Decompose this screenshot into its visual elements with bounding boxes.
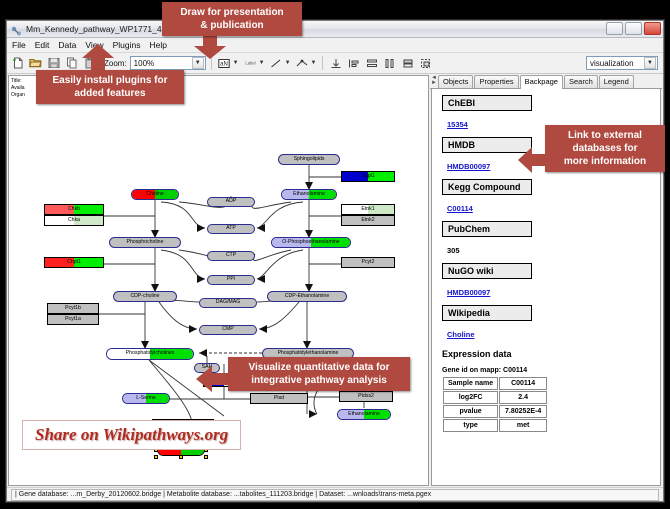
- metabolite-node-cdp_choline[interactable]: CDP-choline: [113, 291, 177, 302]
- node-label: DAG/MAG: [216, 300, 241, 305]
- table-row: type met: [443, 419, 547, 432]
- tab-legend[interactable]: Legend: [599, 75, 634, 88]
- node-label: ADP: [226, 199, 237, 204]
- node-label: Chpt1: [67, 260, 81, 265]
- expression-data-heading: Expression data: [442, 349, 660, 359]
- callout-visualize-arrow-icon: [196, 364, 232, 399]
- menu-item-plugins[interactable]: Plugins: [113, 40, 141, 50]
- zoom-value: 100%: [134, 59, 154, 68]
- gene-node-etnk1[interactable]: Etnk1: [341, 204, 395, 215]
- align-left-icon[interactable]: [346, 56, 361, 71]
- table-row: pvalue 7.80252E-4: [443, 405, 547, 418]
- node-label: Pisd: [274, 396, 284, 401]
- maximize-button[interactable]: [625, 22, 642, 35]
- metabolite-node-cdp_ethanolamine[interactable]: CDP-Ethanolamine: [267, 291, 347, 302]
- share-banner-text: Share on Wikipathways.org: [35, 425, 228, 444]
- label-icon: Label: [243, 56, 258, 71]
- db-link-hmdb[interactable]: HMDB00097: [447, 162, 490, 171]
- datanode-dropdown-icon[interactable]: ▼: [233, 60, 239, 66]
- table-row: Sample name C00114: [443, 377, 547, 390]
- distribute-vertical-icon[interactable]: [364, 56, 379, 71]
- callout-links: Link to externaldatabases formore inform…: [545, 125, 665, 172]
- db-link-nugo[interactable]: HMDB00097: [447, 288, 490, 297]
- gene-node-pcyt2[interactable]: Pcyt2: [341, 257, 395, 268]
- open-folder-icon[interactable]: [28, 56, 43, 71]
- selection-handle[interactable]: [179, 455, 183, 459]
- gene-node-etnk2[interactable]: Etnk2: [341, 215, 395, 226]
- tab-search[interactable]: Search: [564, 75, 598, 88]
- node-label: Phosphatidylcholines: [126, 351, 175, 356]
- metabolite-node-phosphocholine[interactable]: Phosphocholine: [109, 237, 181, 248]
- save-icon[interactable]: [46, 56, 61, 71]
- node-label: Pcyt1a: [65, 317, 81, 322]
- callout-plugins: Easily install plugins foradded features: [36, 70, 184, 104]
- status-text: | Gene database: ...m_Derby_20120602.bri…: [11, 489, 659, 501]
- metabolite-node-choline_top[interactable]: Choline: [131, 189, 179, 200]
- node-label: Chkb: [68, 207, 80, 212]
- metabolite-node-adp[interactable]: ADP: [207, 197, 255, 207]
- minimize-button[interactable]: [606, 22, 623, 35]
- callout-plugins-text: Easily install plugins foradded features: [52, 75, 167, 99]
- group-icon[interactable]: [418, 56, 433, 71]
- callout-visualize-text: Visualize quantitative data forintegrati…: [249, 362, 390, 386]
- expr-key-type: type: [443, 419, 498, 432]
- expr-val-log2fc: 2.4: [499, 391, 547, 404]
- gene-node-ptdss2[interactable]: Ptdss2: [339, 391, 393, 402]
- node-label: CMP: [222, 327, 234, 332]
- node-label: Ptdss2: [358, 394, 374, 399]
- node-label: Choline: [146, 192, 164, 197]
- line-icon[interactable]: [269, 56, 284, 71]
- db-name-chebi: ChEBI: [442, 95, 532, 111]
- node-label: L-Serine: [136, 396, 156, 401]
- expr-val-pvalue: 7.80252E-4: [499, 405, 547, 418]
- title-bar: Mm_Kennedy_pathway_WP1771_45176.gpml: [7, 21, 663, 38]
- metabolite-node-lserine_left[interactable]: L-Serine: [122, 393, 170, 404]
- node-label: CDP-choline: [130, 294, 159, 299]
- db-name-kegg: Kegg Compound: [442, 179, 532, 195]
- table-row: log2FC 2.4: [443, 391, 547, 404]
- db-block-kegg: Kegg Compound C00114: [442, 179, 660, 221]
- callout-links-text: Link to externaldatabases formore inform…: [564, 130, 646, 167]
- metabolite-node-dagmag[interactable]: DAG/MAG: [199, 298, 257, 308]
- window-controls[interactable]: [606, 22, 661, 35]
- node-label: Etnk1: [361, 207, 374, 212]
- expression-table: Sample name C00114 log2FC 2.4 pvalue 7.8…: [442, 376, 548, 433]
- metabolite-node-ethanolamine_right[interactable]: Ethanolamine: [337, 409, 391, 420]
- gene-id-line: Gene id on mapp: C00114: [442, 367, 660, 374]
- expr-key-log2fc: log2FC: [443, 391, 498, 404]
- toolbar-separator-2: [322, 56, 323, 70]
- tab-objects[interactable]: Objects: [438, 75, 473, 88]
- node-label: Phosphatidylethanolamine: [278, 351, 339, 356]
- node-label: Chka: [68, 218, 80, 223]
- expr-key-pvalue: pvalue: [443, 405, 498, 418]
- chevron-down-icon-2[interactable]: ▼: [644, 57, 656, 69]
- share-banner: Share on Wikipathways.org: [22, 420, 241, 450]
- node-label: PPi: [227, 277, 235, 282]
- menu-item-edit[interactable]: Edit: [35, 40, 50, 50]
- node-label: CDP-Ethanolamine: [285, 294, 329, 299]
- close-button[interactable]: [644, 22, 661, 35]
- align-bottom-icon[interactable]: [328, 56, 343, 71]
- callout-draw-arrow-icon: [192, 36, 228, 65]
- node-label: Etnk2: [361, 218, 374, 223]
- menu-item-help[interactable]: Help: [150, 40, 167, 50]
- db-link-wikipedia[interactable]: Choline: [447, 330, 475, 339]
- gene-node-sgpl1[interactable]: Sgpl1: [341, 171, 395, 182]
- distribute-horizontal-icon[interactable]: [382, 56, 397, 71]
- db-name-nugo: NuGO wiki: [442, 263, 532, 279]
- side-tabs: ◄► Objects Properties Backpage Search Le…: [430, 75, 662, 89]
- metabolite-node-sphingolipids[interactable]: Sphingolipids: [278, 154, 340, 165]
- callout-draw: Draw for presentation& publication: [162, 2, 302, 36]
- node-label: Pcyt1b: [65, 306, 81, 311]
- db-link-kegg[interactable]: C00114: [447, 204, 473, 213]
- anchor-dropdown-icon[interactable]: ▼: [311, 60, 317, 66]
- node-label: Ethanolamine: [348, 412, 380, 417]
- node-label: CTP: [226, 253, 236, 258]
- metabolite-node-atp[interactable]: ATP: [207, 224, 255, 234]
- svg-text:Label: Label: [245, 61, 255, 66]
- stack-icon[interactable]: [400, 56, 415, 71]
- callout-visualize: Visualize quantitative data forintegrati…: [228, 357, 410, 391]
- gene-node-pisd[interactable]: Pisd: [250, 393, 308, 404]
- db-block-nugo: NuGO wiki HMDB00097: [442, 263, 660, 305]
- expr-key-sample: Sample name: [443, 377, 498, 390]
- callout-draw-text: Draw for presentation& publication: [180, 7, 283, 31]
- db-block-wikipedia: Wikipedia Choline: [442, 305, 660, 347]
- tab-scroll-icon[interactable]: ◄►: [431, 76, 437, 86]
- gene-node-pcyt1a[interactable]: Pcyt1a: [47, 314, 99, 325]
- metabolite-node-cmp[interactable]: CMP: [199, 325, 257, 335]
- db-name-pubchem: PubChem: [442, 221, 532, 237]
- node-label: ATP: [226, 226, 236, 231]
- node-label: O-Phosphoethanolamine: [282, 240, 339, 245]
- metabolite-node-ctp[interactable]: CTP: [207, 251, 255, 261]
- anchor-icon[interactable]: [295, 56, 310, 71]
- db-block-pubchem: PubChem 305: [442, 221, 660, 263]
- pathvisio-icon: [11, 24, 22, 35]
- node-label: Sphingolipids: [294, 157, 325, 162]
- copy-icon[interactable]: [64, 56, 79, 71]
- line-dropdown-icon[interactable]: ▼: [285, 60, 291, 66]
- gene-node-chpt1[interactable]: Chpt1: [44, 257, 104, 268]
- selection-handle[interactable]: [154, 455, 158, 459]
- status-bar: | Gene database: ...m_Derby_20120602.bri…: [7, 487, 663, 501]
- node-label: Ethanolamine: [293, 192, 325, 197]
- gene-node-chkb[interactable]: Chkb: [44, 204, 104, 215]
- menu-item-data[interactable]: Data: [58, 40, 76, 50]
- menu-item-file[interactable]: File: [12, 40, 26, 50]
- visualization-combo[interactable]: visualization ▼: [586, 56, 658, 70]
- label-dropdown-icon[interactable]: ▼: [259, 60, 265, 66]
- expr-val-type: met: [499, 419, 547, 432]
- node-label: Sgpl1: [361, 174, 374, 179]
- node-label: Phosphocholine: [127, 240, 164, 245]
- selection-handle[interactable]: [204, 455, 208, 459]
- db-link-chebi[interactable]: 15354: [447, 120, 468, 129]
- node-label: Pcyt2: [362, 260, 375, 265]
- expr-val-sample: C00114: [499, 377, 547, 390]
- metabolite-node-ethanolamine_top[interactable]: Ethanolamine: [281, 189, 337, 200]
- db-name-wikipedia: Wikipedia: [442, 305, 532, 321]
- visualization-value: visualization: [590, 59, 634, 68]
- tab-backpage[interactable]: Backpage: [520, 75, 563, 89]
- metabolite-node-ophosphoethanolamine[interactable]: O-Phosphoethanolamine: [271, 237, 351, 248]
- metabolite-node-ppi[interactable]: PPi: [207, 275, 255, 285]
- gene-node-pcyt1b[interactable]: Pcyt1b: [47, 303, 99, 314]
- tab-properties[interactable]: Properties: [474, 75, 518, 88]
- gene-node-chka[interactable]: Chka: [44, 215, 104, 226]
- db-value-pubchem: 305: [447, 246, 460, 255]
- metabolite-node-phosphatidylcholines[interactable]: Phosphatidylcholines: [106, 348, 194, 360]
- new-document-icon[interactable]: [10, 56, 25, 71]
